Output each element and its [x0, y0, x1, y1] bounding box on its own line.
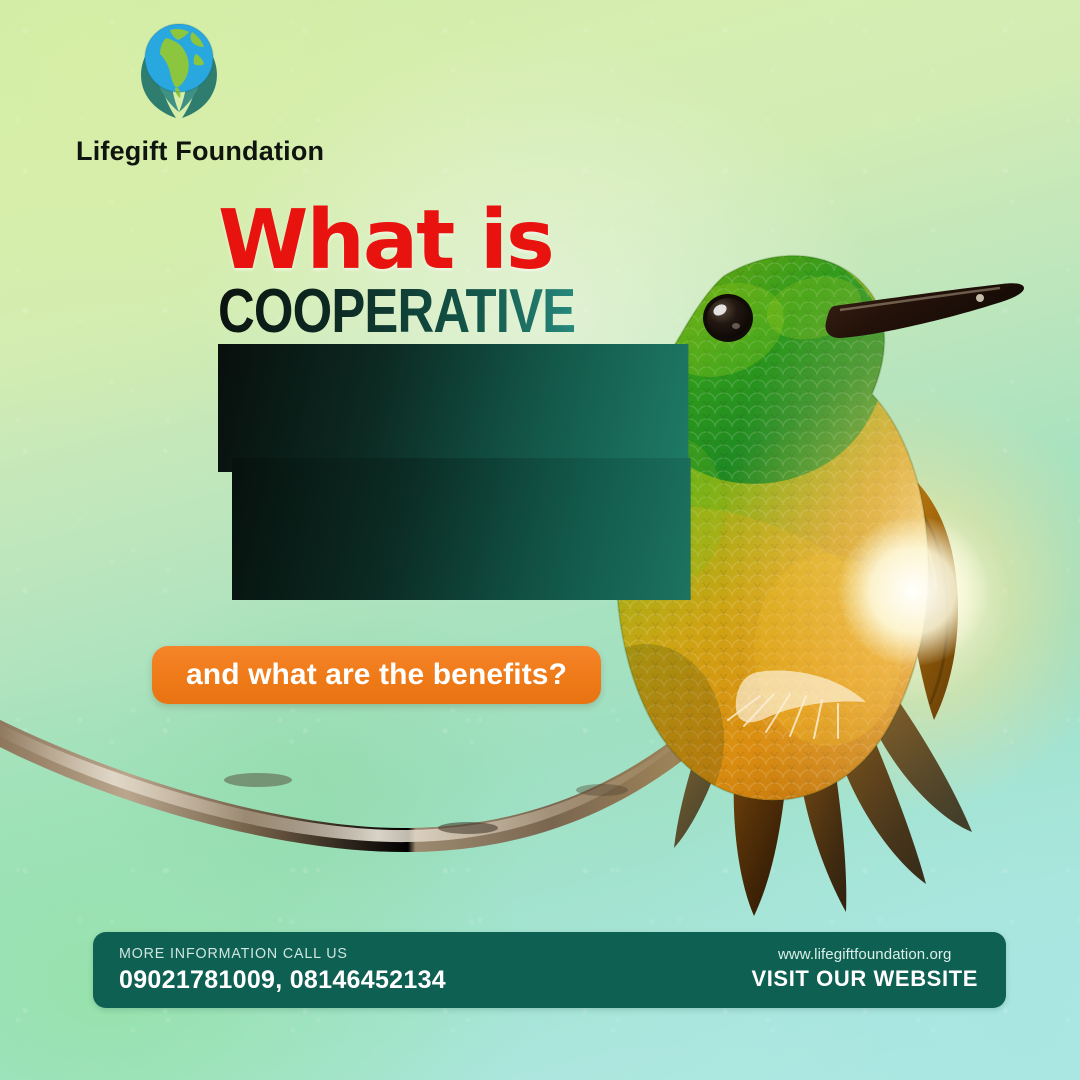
footer-website-group[interactable]: www.lifegiftfoundation.org VISIT OUR WEB…	[751, 946, 978, 992]
brand-name: Lifegift Foundation	[72, 136, 372, 167]
headline-line-what-is: What is	[218, 206, 778, 277]
globe-in-hands-icon	[126, 14, 232, 126]
subheadline-pill[interactable]: and what are the benefits?	[152, 646, 601, 704]
footer-call-kicker: MORE INFORMATION CALL US	[119, 945, 430, 962]
headline-block: What is COOPERATIVE EARLY BIRD	[218, 206, 778, 600]
footer-phone-numbers[interactable]: 09021781009, 08146452134	[119, 966, 446, 995]
headline-line-bird: BIRD	[232, 458, 691, 600]
brand-logo[interactable]: Lifegift Foundation	[72, 14, 372, 167]
footer-contact-group: MORE INFORMATION CALL US 09021781009, 08…	[119, 945, 446, 995]
subheadline-text: and what are the benefits?	[186, 658, 567, 692]
poster-canvas: Lifegift Foundation What is COOPERATIVE …	[0, 0, 1080, 1080]
footer-website-cta[interactable]: VISIT OUR WEBSITE	[751, 966, 978, 992]
contact-footer-bar: MORE INFORMATION CALL US 09021781009, 08…	[93, 932, 1006, 1008]
footer-website-url[interactable]: www.lifegiftfoundation.org	[751, 946, 978, 963]
